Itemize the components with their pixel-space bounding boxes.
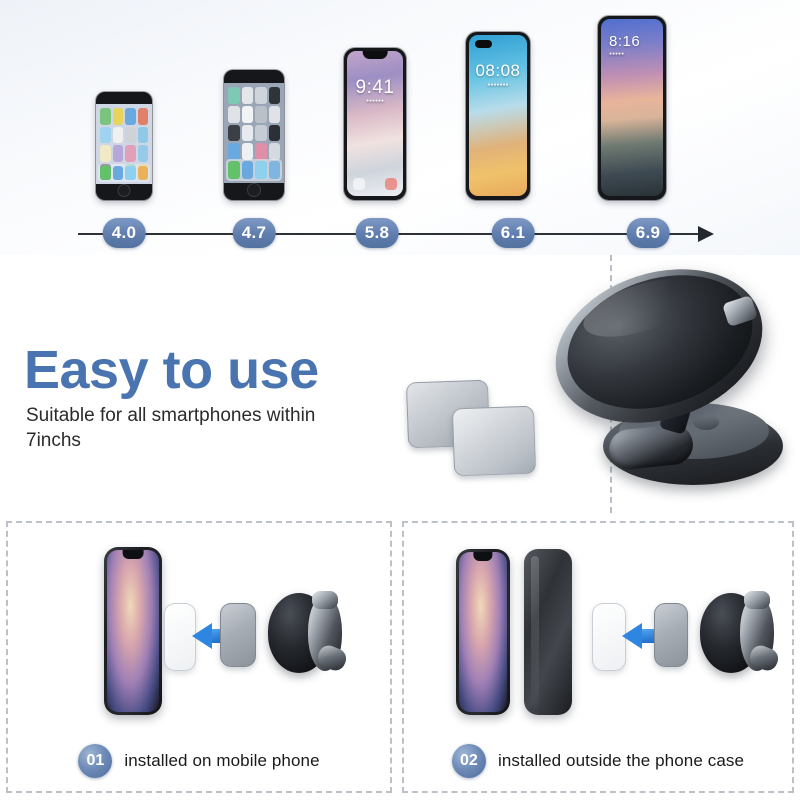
exploded-phone — [456, 549, 510, 715]
phone-huawei-p40: 08:08 ●●●●●●● — [466, 32, 530, 200]
metal-plate — [220, 603, 256, 667]
metal-plate-2 — [452, 406, 536, 477]
size-badge-5-8: 5.8 — [356, 218, 399, 248]
timeline-arrow-icon — [698, 226, 714, 242]
install-caption-02: 02 installed outside the phone case — [404, 741, 792, 781]
step-caption-text: installed outside the phone case — [498, 751, 744, 771]
size-badge-4-0: 4.0 — [103, 218, 146, 248]
installation-steps: 01 installed on mobile phone — [0, 513, 800, 800]
step-number-badge: 02 — [452, 744, 486, 778]
step-caption-text: installed on mobile phone — [124, 751, 319, 771]
phone-iphone-4 — [96, 92, 152, 200]
product-infographic: 9:41 ●●●●●● 08:08 ●●●●●●● 8:16 ●●●●● — [0, 0, 800, 800]
step-number-badge: 01 — [78, 744, 112, 778]
phone-case — [524, 549, 572, 715]
phone-screen-time: 08:08 — [469, 61, 527, 81]
size-badge-6-1: 6.1 — [492, 218, 535, 248]
hero-product-image — [395, 255, 800, 513]
metal-plate — [654, 603, 688, 667]
size-timeline: 4.0 4.7 5.8 6.1 6.9 — [0, 212, 800, 255]
mount-base-knob — [693, 415, 719, 430]
size-badge-6-9: 6.9 — [627, 218, 670, 248]
phone-iphone-7 — [224, 70, 284, 200]
size-comparison-band: 9:41 ●●●●●● 08:08 ●●●●●●● 8:16 ●●●●● — [0, 0, 800, 255]
mount-head-assembly — [700, 593, 780, 679]
headline: Easy to use — [24, 343, 319, 397]
exploded-phone — [104, 547, 162, 715]
phone-screen-time: 8:16 — [609, 33, 640, 50]
size-badge-4-7: 4.7 — [233, 218, 276, 248]
protective-film — [592, 603, 626, 671]
phones-row: 9:41 ●●●●●● 08:08 ●●●●●●● 8:16 ●●●●● — [0, 0, 800, 212]
phone-screen-time: 9:41 — [347, 77, 403, 99]
install-panel-01: 01 installed on mobile phone — [6, 521, 392, 793]
install-diagram-02 — [404, 523, 792, 741]
install-diagram-01 — [8, 523, 390, 741]
phone-xiaomi-max: 8:16 ●●●●● — [598, 16, 666, 200]
phone-iphone-x: 9:41 ●●●●●● — [344, 48, 406, 200]
easy-to-use-section: Easy to use Suitable for all smartphones… — [0, 255, 800, 513]
install-panel-02: 02 installed outside the phone case — [402, 521, 794, 793]
mount-head-assembly — [268, 593, 348, 679]
install-caption-01: 01 installed on mobile phone — [8, 741, 390, 781]
subheadline: Suitable for all smartphones within 7inc… — [26, 403, 356, 454]
